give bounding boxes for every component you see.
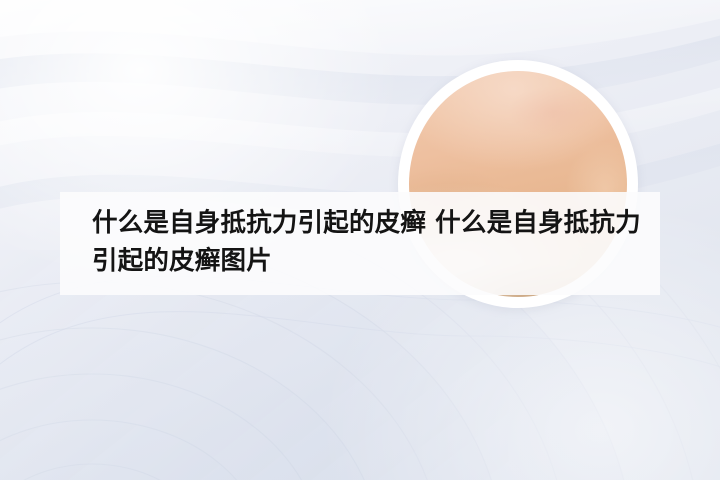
image-canvas: 什么是自身抵抗力引起的皮癣 什么是自身抵抗力引起的皮癣图片 (0, 0, 720, 480)
caption-title: 什么是自身抵抗力引起的皮癣 什么是自身抵抗力引起的皮癣图片 (92, 204, 644, 280)
